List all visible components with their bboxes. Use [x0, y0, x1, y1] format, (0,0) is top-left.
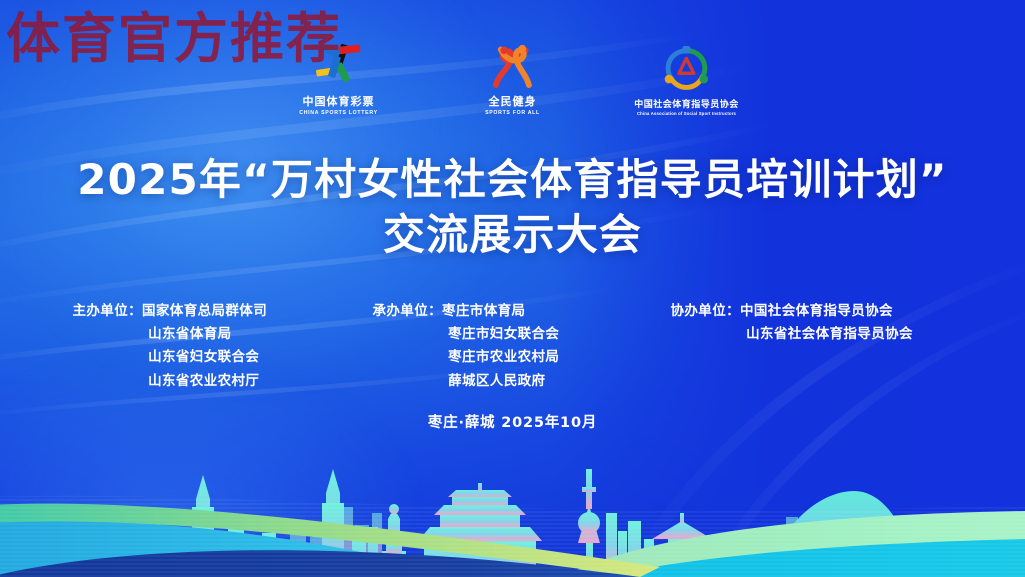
organizer-heading: 协办单位：中国社会体育指导员协会	[671, 300, 971, 323]
logo-label-en: CHINA SPORTS LOTTERY	[299, 110, 377, 116]
logo-china-sports-lottery: 中国体育彩票 CHINA SPORTS LOTTERY	[280, 42, 398, 116]
organizer-unit: 山东省社会体育指导员协会	[671, 323, 971, 346]
organizer-unit: 枣庄市妇女联合会	[373, 323, 653, 346]
title-line-1: 2025年“万村女性社会体育指导员培训计划”	[0, 152, 1025, 207]
organizer-heading: 主办单位：国家体育总局群体司	[73, 300, 373, 323]
event-poster: 体育官方推荐 中国体育彩票 CHINA SPORTS LOTTERY	[0, 0, 1025, 577]
logo-label-en: SPORTS FOR ALL	[485, 110, 540, 116]
organizer-column-organizer: 承办单位：枣庄市体育局 枣庄市妇女联合会 枣庄市农业农村局 薛城区人民政府	[373, 300, 653, 393]
organizer-unit: 山东省农业农村厅	[73, 370, 373, 393]
sports-for-all-icon	[471, 42, 554, 90]
poster-title: 2025年“万村女性社会体育指导员培训计划” 交流展示大会	[0, 152, 1025, 263]
logo-label-cn: 全民健身	[489, 93, 537, 109]
logo-label-cn: 中国体育彩票	[303, 93, 375, 109]
organizer-column-co-organizer: 协办单位：中国社会体育指导员协会 山东省社会体育指导员协会	[653, 300, 971, 393]
organizer-heading: 承办单位：枣庄市体育局	[373, 300, 653, 323]
organizer-columns: 主办单位：国家体育总局群体司 山东省体育局 山东省妇女联合会 山东省农业农村厅 …	[0, 300, 1025, 393]
organizer-unit: 山东省妇女联合会	[73, 346, 373, 369]
organizer-column-host: 主办单位：国家体育总局群体司 山东省体育局 山东省妇女联合会 山东省农业农村厅	[55, 300, 373, 393]
organizer-unit: 山东省体育局	[73, 323, 373, 346]
title-line-2: 交流展示大会	[0, 207, 1025, 262]
china-sports-lottery-icon	[297, 42, 380, 90]
logo-label-en: China Association of Social Sport Instru…	[637, 111, 736, 116]
logo-social-sport-instructors: 中国社会体育指导员协会 China Association of Social …	[628, 46, 746, 116]
place-and-date: 枣庄·薛城 2025年10月	[0, 411, 1025, 432]
logo-row: 中国体育彩票 CHINA SPORTS LOTTERY 全民健身 SPORTS …	[0, 42, 1025, 116]
logo-sports-for-all: 全民健身 SPORTS FOR ALL	[454, 42, 572, 116]
organizer-unit: 薛城区人民政府	[373, 370, 653, 393]
social-sport-instructors-icon	[645, 46, 728, 94]
logo-label-cn: 中国社会体育指导员协会	[634, 97, 739, 110]
organizer-unit: 枣庄市农业农村局	[373, 346, 653, 369]
